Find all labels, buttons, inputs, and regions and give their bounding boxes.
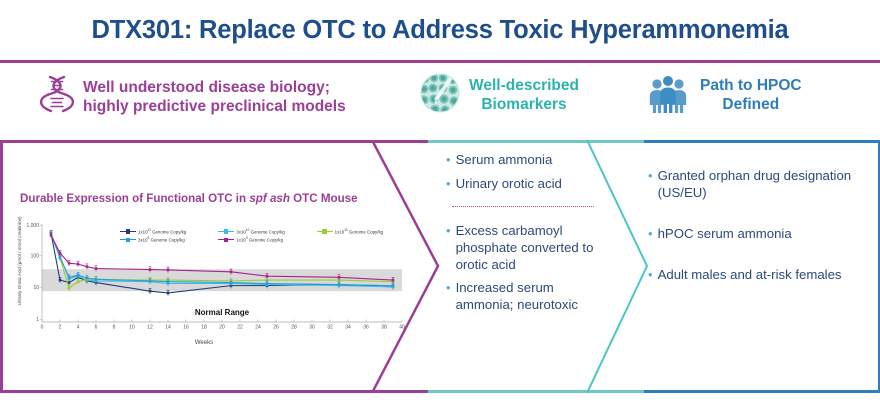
bullet-text: Adult males and at-risk females — [658, 267, 853, 284]
bullet-text: Urinary orotic acid — [456, 176, 596, 193]
microplate-pipette-icon — [420, 73, 460, 118]
bullet-text: Serum ammonia — [456, 152, 596, 169]
svg-text:36: 36 — [363, 325, 369, 331]
chart-legend-item: 1x1010 Genome Copy/kg — [317, 228, 415, 234]
chart-title-italic: spf ash — [249, 192, 290, 205]
svg-text:1,000: 1,000 — [26, 223, 39, 229]
page-title: DTX301: Replace OTC to Address Toxic Hyp… — [0, 0, 880, 60]
bullet-dot-icon: • — [648, 267, 653, 284]
chart-legend-item: 1x109 Genome Copy/kg — [218, 236, 316, 242]
hpoc-bullet: •Granted orphan drug designation (US/EU) — [648, 168, 853, 202]
biomarker-bullet: •Increased serum ammonia; neurotoxic — [446, 280, 596, 314]
header-label-hpoc-line1: Path to HPOC — [700, 77, 802, 94]
svg-text:20: 20 — [219, 325, 225, 331]
svg-text:34: 34 — [345, 325, 351, 331]
chart-title-post: OTC Mouse — [290, 192, 358, 205]
legend-label: 3x1010 Genome Copy/kg — [236, 228, 284, 234]
biomarkers-top-list: •Serum ammonia•Urinary orotic acid — [446, 152, 596, 193]
svg-text:2: 2 — [59, 325, 62, 331]
chart-legend-item: 3x109 Genome Copy/kg — [120, 236, 218, 242]
biomarkers-dotted-divider — [452, 206, 594, 207]
chart-legend-item: 1x1011 Genome Copy/kg — [120, 228, 218, 234]
chart-legend-item: 3x1010 Genome Copy/kg — [218, 228, 316, 234]
svg-text:32: 32 — [327, 325, 333, 331]
biomarkers-bottom-list: •Excess carbamoyl phosphate converted to… — [446, 223, 596, 314]
legend-label: 3x109 Genome Copy/kg — [138, 236, 185, 242]
chart-panel: Durable Expression of Functional OTC in … — [8, 150, 408, 385]
bullet-dot-icon: • — [446, 152, 451, 169]
bullet-dot-icon: • — [648, 168, 653, 185]
header-label-biology-line2: highly predictive preclinical models — [83, 98, 346, 115]
biomarker-bullet: •Excess carbamoyl phosphate converted to… — [446, 223, 596, 274]
header-label-biomarkers-line2: Biomarkers — [481, 96, 566, 113]
panel-border-bottom-right — [644, 390, 880, 393]
bullet-dot-icon: • — [446, 280, 451, 297]
svg-text:26: 26 — [273, 325, 279, 331]
legend-label: 1x1010 Genome Copy/kg — [335, 228, 383, 234]
biomarkers-bullet-column: •Serum ammonia•Urinary orotic acid •Exce… — [446, 152, 596, 321]
bullet-text: hPOC serum ammonia — [658, 226, 853, 243]
legend-swatch-icon — [218, 229, 234, 234]
hpoc-bullet-column: •Granted orphan drug designation (US/EU)… — [648, 168, 853, 308]
panel-border-top-left — [0, 140, 428, 143]
svg-text:100: 100 — [31, 254, 40, 260]
header-group-hpoc: Path to HPOC Defined — [645, 73, 875, 118]
bullet-dot-icon: • — [648, 226, 653, 243]
bullet-text: Granted orphan drug designation (US/EU) — [658, 168, 853, 202]
svg-text:4: 4 — [77, 325, 80, 331]
bullet-text: Increased serum ammonia; neurotoxic — [456, 280, 596, 314]
hpoc-bullet: •hPOC serum ammonia — [648, 226, 853, 243]
bullet-text: Excess carbamoyl phosphate converted to … — [456, 223, 596, 274]
chart-title: Durable Expression of Functional OTC in … — [20, 192, 358, 205]
svg-text:12: 12 — [147, 325, 153, 331]
svg-text:0: 0 — [41, 325, 44, 331]
legend-swatch-icon — [218, 237, 234, 242]
panel-border-left — [0, 140, 3, 392]
svg-text:38: 38 — [381, 325, 387, 331]
biomarker-bullet: •Urinary orotic acid — [446, 176, 596, 193]
svg-text:16: 16 — [183, 325, 189, 331]
header-group-biomarkers: Well-described Biomarkers — [420, 73, 635, 118]
biomarker-bullet: •Serum ammonia — [446, 152, 596, 169]
panel-border-bottom-left — [0, 390, 428, 393]
hpoc-bullet: •Adult males and at-risk females — [648, 267, 853, 284]
header-label-biomarkers: Well-described Biomarkers — [469, 77, 579, 115]
svg-text:30: 30 — [309, 325, 315, 331]
header-label-biology: Well understood disease biology; highly … — [83, 79, 346, 117]
header-label-biology-line1: Well understood disease biology; — [83, 79, 330, 96]
three-people-icon — [645, 73, 691, 118]
legend-label: 1x1011 Genome Copy/kg — [138, 228, 186, 234]
chart-x-axis-label: Weeks — [8, 340, 400, 346]
svg-text:22: 22 — [237, 325, 243, 331]
legend-label: 1x109 Genome Copy/kg — [236, 236, 283, 242]
chart-legend: 1x1011 Genome Copy/kg3x1010 Genome Copy/… — [120, 228, 415, 243]
svg-text:10: 10 — [129, 325, 135, 331]
hpoc-list: •Granted orphan drug designation (US/EU)… — [648, 168, 853, 284]
bullet-dot-icon: • — [446, 223, 451, 240]
dna-helix-icon — [40, 73, 74, 122]
chart-title-pre: Durable Expression of Functional OTC in — [20, 192, 249, 205]
legend-swatch-icon — [120, 229, 136, 234]
svg-text:14: 14 — [165, 325, 171, 331]
legend-swatch-icon — [317, 229, 333, 234]
header-label-hpoc: Path to HPOC Defined — [700, 77, 802, 115]
svg-text:28: 28 — [291, 325, 297, 331]
legend-swatch-icon — [120, 237, 136, 242]
bullet-dot-icon: • — [446, 176, 451, 193]
svg-text:6: 6 — [95, 325, 98, 331]
panel-border-top-right — [644, 140, 880, 143]
normal-range-label: Normal Range — [195, 308, 250, 317]
page-title-text: DTX301: Replace OTC to Address Toxic Hyp… — [92, 16, 789, 45]
header-label-hpoc-line2: Defined — [722, 96, 779, 113]
svg-text:10: 10 — [33, 285, 39, 291]
svg-text:1: 1 — [36, 317, 39, 323]
svg-text:18: 18 — [201, 325, 207, 331]
svg-text:8: 8 — [113, 325, 116, 331]
header-band: Well understood disease biology; highly … — [0, 63, 880, 138]
svg-text:24: 24 — [255, 325, 261, 331]
header-group-biology: Well understood disease biology; highly … — [40, 73, 400, 122]
svg-text:40: 40 — [399, 325, 405, 331]
header-label-biomarkers-line1: Well-described — [469, 77, 579, 94]
